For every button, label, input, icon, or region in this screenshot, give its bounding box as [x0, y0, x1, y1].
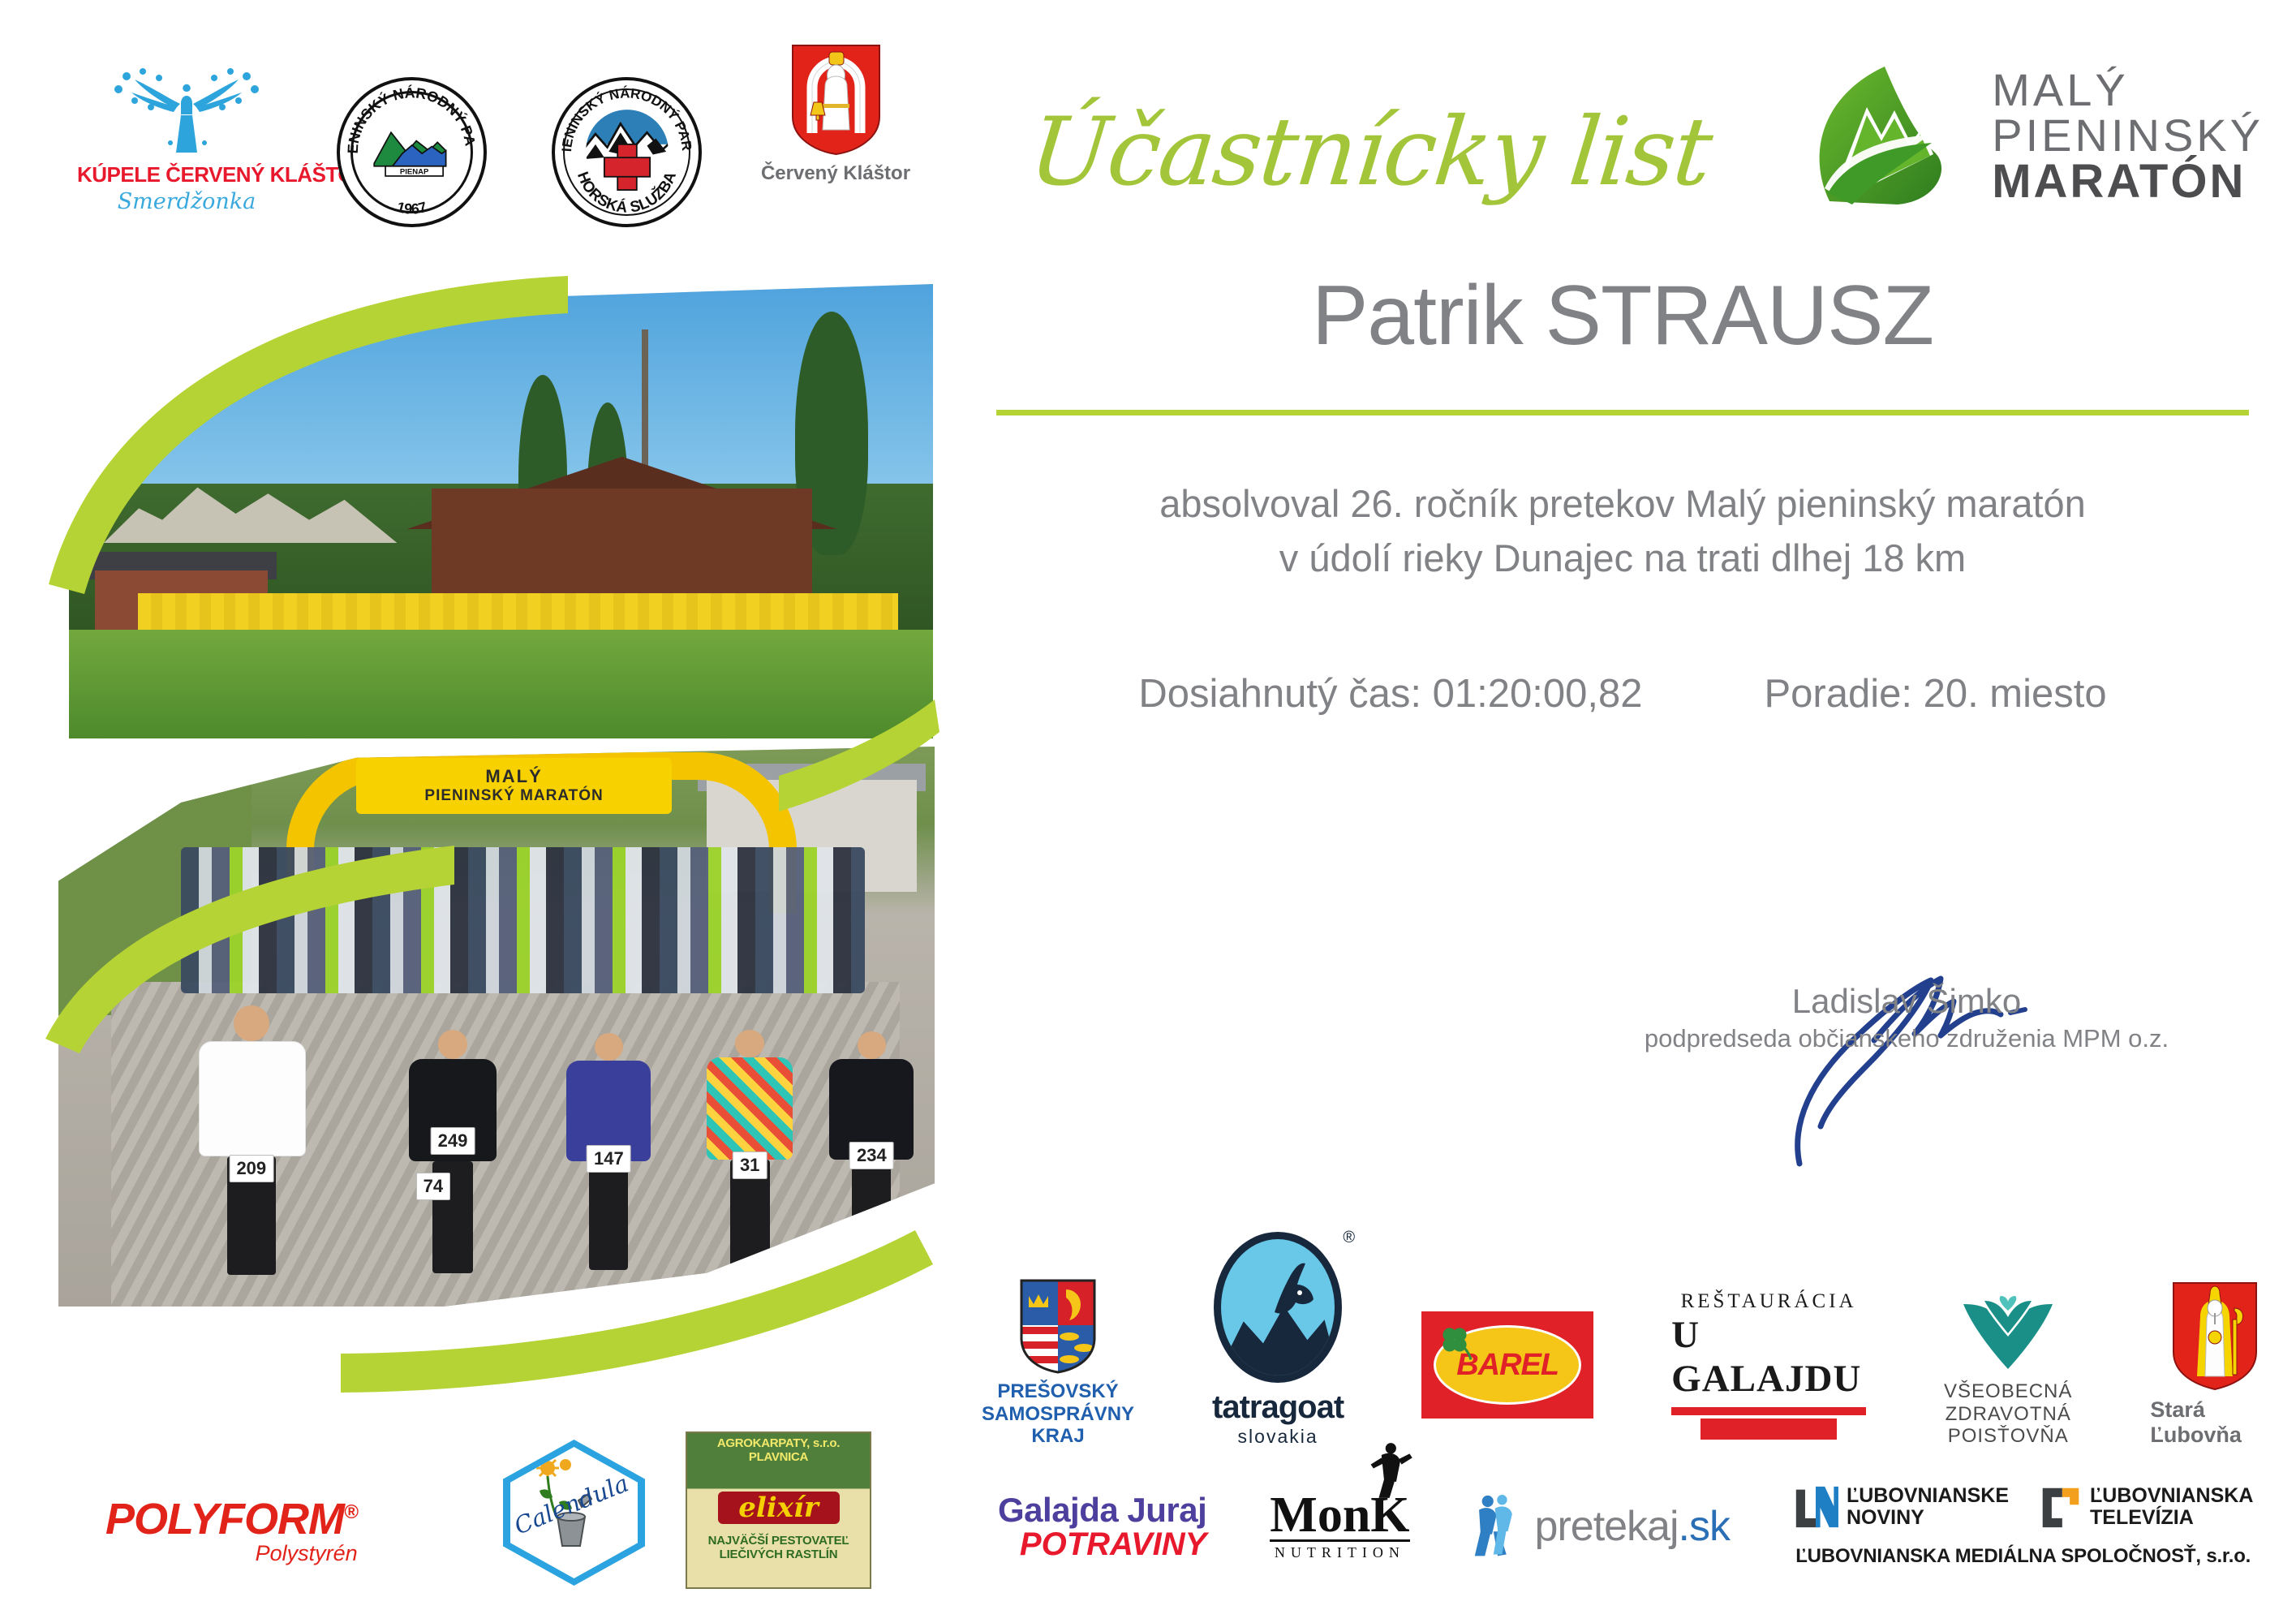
clover-icon	[1436, 1324, 1473, 1361]
monk-wordmark: MonK	[1270, 1492, 1409, 1539]
pretekaj-wordmark: pretekaj.sk	[1535, 1502, 1730, 1551]
bib-number: 249	[431, 1127, 475, 1155]
stara-lubovna-shield-icon	[2171, 1281, 2259, 1391]
leaf-mountain-icon	[1813, 65, 1967, 207]
sponsors-left: POLYFORM® Polystyrén	[0, 1420, 957, 1623]
water-angel-icon	[77, 65, 296, 162]
ln-monogram-icon	[1793, 1485, 1838, 1529]
certificate-body: Patrik STRAUSZ absolvoval 26. ročník pre…	[974, 268, 2272, 717]
sponsor-vszp: VŠEOBECNÁ ZDRAVOTNÁ POISŤOVŇA	[1944, 1296, 2072, 1448]
vszp-line3: POISŤOVŇA	[1944, 1425, 2072, 1448]
registered-mark-icon: ®	[1343, 1229, 1355, 1247]
sponsor-lubovnianska-televizia: ĽUBOVNIANSKA TELEVÍZIA	[2040, 1485, 2253, 1529]
agrokarpaty-claim1: NAJVÄČŠÍ PESTOVATEĽ	[687, 1534, 870, 1548]
logo-pienap: PIENINSKÝ NÁRODNÝ PARK 1967 PIENAP	[337, 77, 487, 227]
polyform-name: POLYFORM	[105, 1495, 344, 1543]
cerveny-klastor-shield-icon	[789, 42, 883, 156]
certificate-results: Dosiahnutý čas: 01:20:00,82 Poradie: 20.…	[974, 671, 2272, 717]
participant-name: Patrik STRAUSZ	[974, 268, 2272, 364]
sponsor-monk-nutrition: MonK NUTRITION	[1270, 1492, 1409, 1561]
ln-caption: ĽUBOVNIANSKE NOVINY	[1847, 1485, 2009, 1529]
photo-race-start: MALÝ PIENINSKÝ MARATÓN 209 249 74	[58, 747, 935, 1307]
runners-icon	[1473, 1494, 1524, 1559]
lt-caption: ĽUBOVNIANSKA TELEVÍZIA	[2090, 1485, 2253, 1529]
arch-banner-line2: PIENINSKÝ MARATÓN	[424, 787, 603, 805]
tatragoat-wordmark: tatragoat	[1212, 1389, 1344, 1426]
ln-line2: NOVINY	[1847, 1507, 2009, 1529]
event-logo-line1: MALÝ	[1992, 67, 2264, 113]
event-logo: MALÝ PIENINSKÝ MARATÓN	[1813, 65, 2264, 207]
bib-number: 147	[587, 1145, 631, 1173]
agrokarpaty-title: AGROKARPATY, s.r.o. PLAVNICA	[687, 1433, 870, 1464]
logo-cerveny-klastor: Červený Kláštor	[759, 42, 913, 185]
sponsor-polyform: POLYFORM® Polystyrén	[105, 1494, 358, 1566]
vszp-heart-icon	[1957, 1296, 2059, 1372]
hs-mountain-cross-icon	[579, 103, 675, 199]
presovsky-kraj-line2: SAMOSPRÁVNY	[982, 1403, 1134, 1426]
sponsor-agrokarpaty: AGROKARPATY, s.r.o. PLAVNICA elixír NAJV…	[686, 1431, 871, 1589]
presovsky-kraj-shield-icon	[1019, 1278, 1097, 1374]
signature-block: Ladislav Šimko podpredseda občianskeho z…	[1606, 982, 2207, 1053]
kupele-subname: Smerdžonka	[77, 189, 296, 214]
agrokarpaty-product: elixír	[718, 1492, 840, 1524]
sponsor-presovsky-kraj: PREŠOVSKÝ SAMOSPRÁVNY KRAJ	[982, 1278, 1134, 1448]
vszp-line2: ZDRAVOTNÁ	[1944, 1403, 2072, 1426]
green-divider	[996, 410, 2249, 415]
rank-placement: Poradie: 20. miesto	[1764, 671, 2106, 717]
runner-pack	[181, 847, 864, 992]
sponsors-row-1: PREŠOVSKÝ SAMOSPRÁVNY KRAJ tatragoat slo…	[982, 1232, 2280, 1448]
sponsor-stara-lubovna: Stará Ľubovňa	[2150, 1281, 2280, 1448]
lt-monogram-icon	[2040, 1485, 2082, 1529]
sponsor-tatragoat: tatragoat slovakia ®	[1212, 1232, 1344, 1448]
agrokarpaty-product-label: elixír	[738, 1492, 819, 1524]
certificate-page: KÚPELE ČERVENÝ KLÁŠTOR Smerdžonka PIENIN…	[0, 0, 2296, 1623]
arch-banner: MALÝ PIENINSKÝ MARATÓN	[356, 758, 672, 814]
vszp-line1: VŠEOBECNÁ	[1944, 1380, 2072, 1403]
svg-text:1967: 1967	[395, 199, 428, 217]
bib-number: 209	[229, 1155, 273, 1182]
lt-line2: TELEVÍZIA	[2090, 1507, 2253, 1529]
vszp-caption: VŠEOBECNÁ ZDRAVOTNÁ POISŤOVŇA	[1944, 1380, 2072, 1448]
photo-collage: MALÝ PIENINSKÝ MARATÓN 209 249 74	[0, 243, 957, 1396]
polyform-sub: Polystyrén	[105, 1541, 358, 1566]
sponsor-barel: BAREL	[1421, 1311, 1593, 1419]
ln-line1: ĽUBOVNIANSKE	[1847, 1485, 2009, 1507]
sponsor-lubovnianske-noviny: ĽUBOVNIANSKE NOVINY	[1793, 1485, 2009, 1529]
pienap-mountain-icon: PIENAP	[370, 119, 454, 179]
runner-figure: 234	[829, 1031, 914, 1273]
sponsor-media-group: ĽUBOVNIANSKE NOVINY ĽUBOVNIANSKA TELEVÍZ…	[1793, 1485, 2253, 1568]
lt-line1: ĽUBOVNIANSKA	[2090, 1485, 2253, 1507]
presovsky-kraj-line1: PREŠOVSKÝ	[982, 1380, 1134, 1403]
tatragoat-icon	[1214, 1232, 1342, 1383]
galajda-juraj-line2: POTRAVINY	[1020, 1526, 1206, 1563]
photo-venue	[69, 284, 933, 738]
event-logo-line2: PIENINSKÝ	[1992, 113, 2264, 158]
sponsor-pretekaj: pretekaj.sk	[1473, 1494, 1730, 1559]
event-logo-wordmark: MALÝ PIENINSKÝ MARATÓN	[1992, 67, 2264, 205]
u-galajdu-top: REŠTAURÁCIA	[1681, 1290, 1857, 1313]
barel-logo: BAREL	[1421, 1311, 1593, 1419]
sponsor-galajda-juraj: Galajda Juraj POTRAVINY	[998, 1491, 1206, 1563]
pretekaj-name: pretekaj	[1535, 1503, 1679, 1550]
bib-number: 234	[849, 1142, 894, 1169]
sponsors-row-2: Galajda Juraj POTRAVINY MonK NUTRITION	[998, 1485, 2288, 1568]
signatory-role: podpredseda občianskeho združenia MPM o.…	[1606, 1024, 2207, 1053]
page-title: Účastnícky list	[1025, 97, 1716, 207]
tatragoat-sub: slovakia	[1238, 1426, 1318, 1448]
arch-banner-line1: MALÝ	[485, 766, 542, 787]
bib-number: 74	[416, 1173, 450, 1200]
cerveny-klastor-label: Červený Kláštor	[759, 162, 913, 185]
certificate-description: absolvoval 26. ročník pretekov Malý pien…	[974, 477, 2272, 585]
runner-figure: 31	[707, 1030, 793, 1273]
runner-figure: 249 74	[409, 1030, 497, 1273]
kupele-name: KÚPELE ČERVENÝ KLÁŠTOR	[77, 162, 296, 187]
galajda-juraj-line1: Galajda Juraj	[998, 1491, 1206, 1530]
bib-number: 31	[733, 1152, 767, 1179]
logo-kupele-cerveny-klastor: KÚPELE ČERVENÝ KLÁŠTOR Smerdžonka	[77, 65, 296, 214]
agrokarpaty-claim2: LIEČIVÝCH RASTLÍN	[687, 1548, 870, 1561]
presovsky-kraj-caption: PREŠOVSKÝ SAMOSPRÁVNY KRAJ	[982, 1380, 1134, 1448]
u-galajdu-wordmark: U GALAJDU	[1671, 1313, 1866, 1401]
signatory-name: Ladislav Šimko	[1606, 982, 2207, 1021]
pretekaj-tld: .sk	[1679, 1503, 1730, 1550]
description-line-1: absolvoval 26. ročník pretekov Malý pien…	[974, 477, 2272, 532]
header-logo-strip: KÚPELE ČERVENÝ KLÁŠTOR Smerdžonka PIENIN…	[0, 0, 957, 252]
finish-time: Dosiahnutý čas: 01:20:00,82	[1138, 671, 1642, 717]
polyform-wordmark: POLYFORM®	[105, 1494, 358, 1544]
logo-horska-sluzba: PIENINSKÝ NÁRODNÝ PARK HORSKÁ SLUŽBA	[552, 77, 702, 227]
sponsor-calendula: Calendula	[503, 1440, 645, 1586]
u-galajdu-ornament-folk	[1701, 1419, 1837, 1440]
description-line-2: v údolí rieky Dunajec na trati dlhej 18 …	[974, 532, 2272, 586]
presovsky-kraj-line3: KRAJ	[982, 1425, 1134, 1448]
svg-text:PIENAP: PIENAP	[400, 167, 429, 176]
runner-figure: 147	[566, 1033, 651, 1273]
registered-mark-icon: ®	[344, 1501, 358, 1523]
stara-lubovna-caption: Stará Ľubovňa	[2150, 1397, 2280, 1448]
event-logo-line3: MARATÓN	[1992, 158, 2264, 205]
runner-figure: 209	[199, 1005, 304, 1273]
u-galajdu-ornament-bar	[1671, 1407, 1866, 1415]
lms-company-name: ĽUBOVNIANSKA MEDIÁLNA SPOLOČNOSŤ, s.r.o.	[1795, 1545, 2251, 1568]
sponsor-u-galajdu: REŠTAURÁCIA U GALAJDU	[1671, 1290, 1866, 1440]
